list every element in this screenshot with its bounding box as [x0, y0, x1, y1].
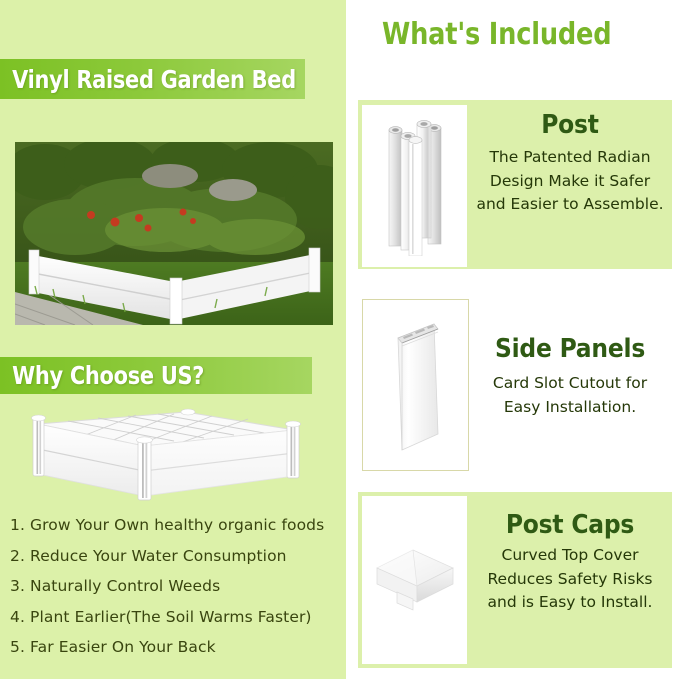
list-item: 3. Naturally Control Weeds: [6, 571, 346, 602]
desc-line: The Patented Radian: [470, 146, 670, 170]
post-card-heading: Post: [470, 110, 670, 140]
whats-included-heading: What's Included: [382, 17, 658, 59]
desc-line: Card Slot Cutout for: [470, 372, 670, 396]
side-panel-card-heading: Side Panels: [470, 334, 670, 364]
included-card-post-caps: Post Caps Curved Top Cover Reduces Safet…: [358, 492, 672, 668]
hero-photo: [15, 142, 333, 325]
desc-line: Design Make it Safer: [470, 170, 670, 194]
post-cap-thumbnail: [362, 496, 467, 664]
included-card-side-panels: Side Panels Card Slot Cutout for Easy In…: [358, 296, 672, 472]
benefits-list: 1. Grow Your Own healthy organic foods 2…: [6, 510, 346, 663]
post-cap-card-body: Post Caps Curved Top Cover Reduces Safet…: [470, 510, 670, 615]
product-title-text: Vinyl Raised Garden Bed: [0, 65, 296, 94]
why-choose-us-bar: Why Choose US?: [0, 357, 312, 394]
side-panel-card-body: Side Panels Card Slot Cutout for Easy In…: [470, 334, 670, 419]
post-card-description: The Patented Radian Design Make it Safer…: [470, 146, 670, 217]
product-render: [16, 404, 316, 504]
infographic-page: Vinyl Raised Garden Bed: [0, 0, 679, 679]
desc-line: and is Easy to Install.: [470, 591, 670, 615]
post-thumbnail: [362, 105, 467, 267]
list-item: 5. Far Easier On Your Back: [6, 632, 346, 663]
side-panel-thumbnail: [362, 299, 469, 471]
list-item: 1. Grow Your Own healthy organic foods: [6, 510, 346, 541]
desc-line: Reduces Safety Risks: [470, 568, 670, 592]
garden-bed-photo-illustration: [15, 142, 333, 325]
why-choose-us-text: Why Choose US?: [0, 361, 204, 390]
desc-line: and Easier to Assemble.: [470, 193, 670, 217]
vinyl-side-panel-icon: [376, 310, 456, 460]
included-card-post: Post The Patented Radian Design Make it …: [358, 100, 672, 269]
desc-line: Easy Installation.: [470, 396, 670, 420]
vinyl-post-icon: [379, 116, 451, 256]
post-card-body: Post The Patented Radian Design Make it …: [470, 110, 670, 217]
side-panel-card-description: Card Slot Cutout for Easy Installation.: [470, 372, 670, 419]
right-panel: What's Included: [346, 0, 679, 679]
product-title-bar: Vinyl Raised Garden Bed: [0, 59, 305, 99]
left-panel: Vinyl Raised Garden Bed: [0, 0, 346, 679]
list-item: 2. Reduce Your Water Consumption: [6, 541, 346, 572]
post-cap-card-description: Curved Top Cover Reduces Safety Risks an…: [470, 544, 670, 615]
desc-line: Curved Top Cover: [470, 544, 670, 568]
post-cap-card-heading: Post Caps: [470, 510, 670, 540]
list-item: 4. Plant Earlier(The Soil Warms Faster): [6, 602, 346, 633]
garden-bed-render-illustration: [16, 404, 316, 504]
vinyl-post-cap-icon: [367, 540, 463, 620]
